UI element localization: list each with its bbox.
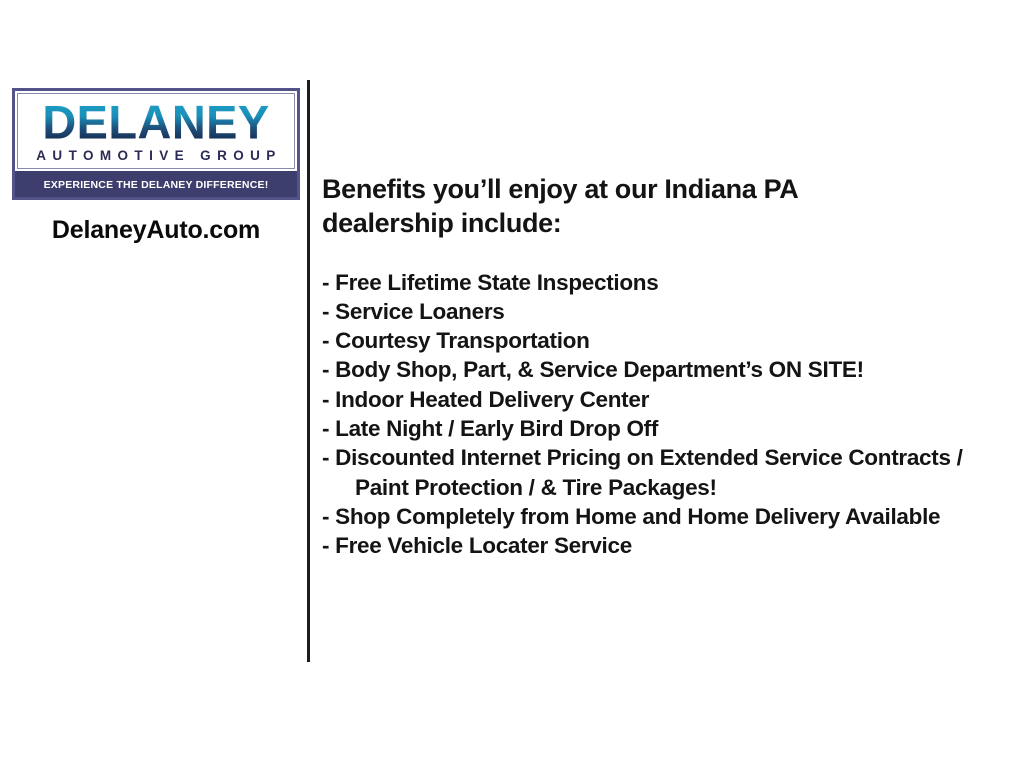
list-item-continuation: Paint Protection / & Tire Packages!	[322, 473, 1012, 502]
list-item: - Courtesy Transportation	[322, 326, 1012, 355]
list-item: - Free Lifetime State Inspections	[322, 268, 1012, 297]
slide-canvas: DELANEY AUTOMOTIVE GROUP EXPERIENCE THE …	[0, 0, 1024, 768]
list-item: - Service Loaners	[322, 297, 1012, 326]
list-item: - Body Shop, Part, & Service Department’…	[322, 355, 1012, 384]
list-item: - Free Vehicle Locater Service	[322, 531, 1012, 560]
benefits-list: - Free Lifetime State Inspections- Servi…	[322, 268, 1012, 561]
list-item: - Discounted Internet Pricing on Extende…	[322, 443, 1012, 472]
svg-text:DELANEY: DELANEY	[42, 98, 269, 148]
list-item: - Late Night / Early Bird Drop Off	[322, 414, 1012, 443]
logo-subtitle: AUTOMOTIVE GROUP	[24, 148, 288, 166]
delaney-wordmark-icon: DELANEY	[24, 98, 288, 148]
content-column: Benefits you’ll enjoy at our Indiana PA …	[322, 172, 1012, 561]
page-title: Benefits you’ll enjoy at our Indiana PA …	[322, 172, 862, 241]
list-item: - Indoor Heated Delivery Center	[322, 385, 1012, 414]
brand-block: DELANEY AUTOMOTIVE GROUP EXPERIENCE THE …	[12, 88, 300, 245]
list-item: - Shop Completely from Home and Home Del…	[322, 502, 1012, 531]
logo-tagline-bar: EXPERIENCE THE DELANEY DIFFERENCE!	[15, 171, 297, 197]
logo-inner-panel: DELANEY AUTOMOTIVE GROUP	[17, 93, 295, 169]
brand-website-url: DelaneyAuto.com	[12, 216, 300, 245]
logo-tagline-text: EXPERIENCE THE DELANEY DIFFERENCE!	[44, 179, 269, 191]
delaney-logo: DELANEY AUTOMOTIVE GROUP EXPERIENCE THE …	[12, 88, 300, 200]
vertical-divider	[307, 80, 310, 662]
